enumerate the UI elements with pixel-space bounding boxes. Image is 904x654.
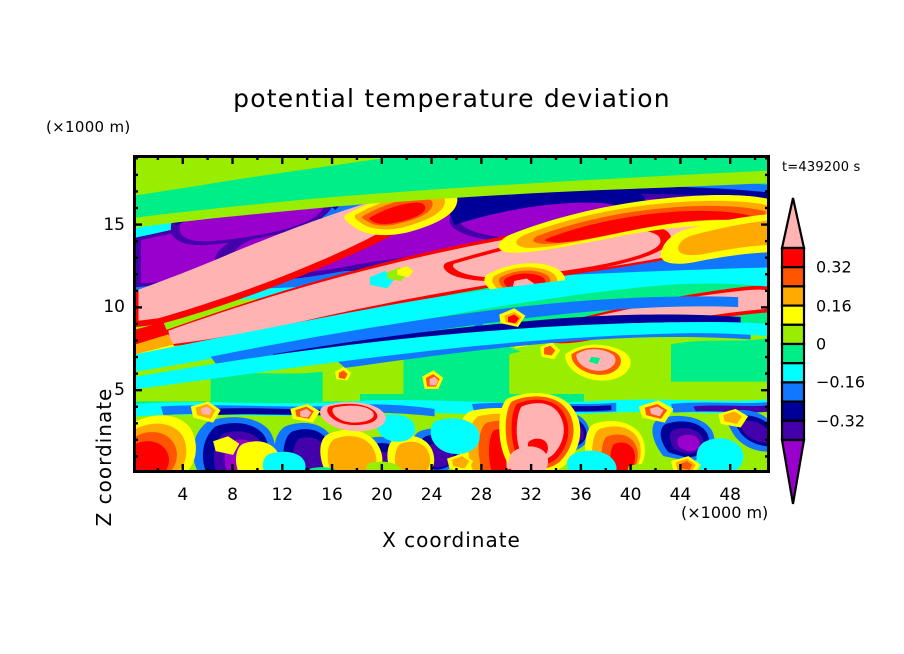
x-axis-unit-label: (×1000 m) — [681, 503, 768, 522]
plot-frame — [133, 155, 770, 473]
colorbar[interactable]: 0.320.160−0.16−0.32 — [778, 196, 898, 526]
x-tick-label: 8 — [227, 485, 238, 505]
x-tick-label: 4 — [177, 485, 188, 505]
x-tick-label: 28 — [471, 485, 493, 505]
y-axis-title: Z coordinate — [92, 347, 116, 567]
page-title: potential temperature deviation — [0, 84, 904, 113]
x-tick-label: 44 — [670, 485, 692, 505]
x-tick-label: 16 — [321, 485, 343, 505]
x-tick-label: 40 — [620, 485, 642, 505]
x-tick-label: 20 — [371, 485, 393, 505]
colorbar-tick-label: 0.32 — [816, 258, 852, 277]
colorbar-tick-label: −0.16 — [816, 373, 865, 392]
contour-field — [136, 158, 770, 473]
colorbar-tick-label: 0 — [816, 335, 826, 354]
colorbar-tick-label: −0.32 — [816, 411, 865, 430]
y-axis-unit-label: (×1000 m) — [46, 118, 131, 136]
colorbar-swatches — [778, 196, 818, 526]
plot-area: 4812162024283236404448 51015 — [133, 155, 770, 473]
x-tick-label: 36 — [570, 485, 592, 505]
y-axis-title-box: Z coordinate — [54, 155, 124, 473]
colorbar-tick-label: 0.16 — [816, 296, 852, 315]
x-tick-label: 48 — [719, 485, 741, 505]
x-tick-label: 12 — [271, 485, 293, 505]
x-tick-label: 32 — [520, 485, 542, 505]
x-axis-title: X coordinate — [133, 528, 770, 552]
x-tick-label: 24 — [421, 485, 443, 505]
timestamp-annotation: t=439200 s — [782, 160, 861, 175]
